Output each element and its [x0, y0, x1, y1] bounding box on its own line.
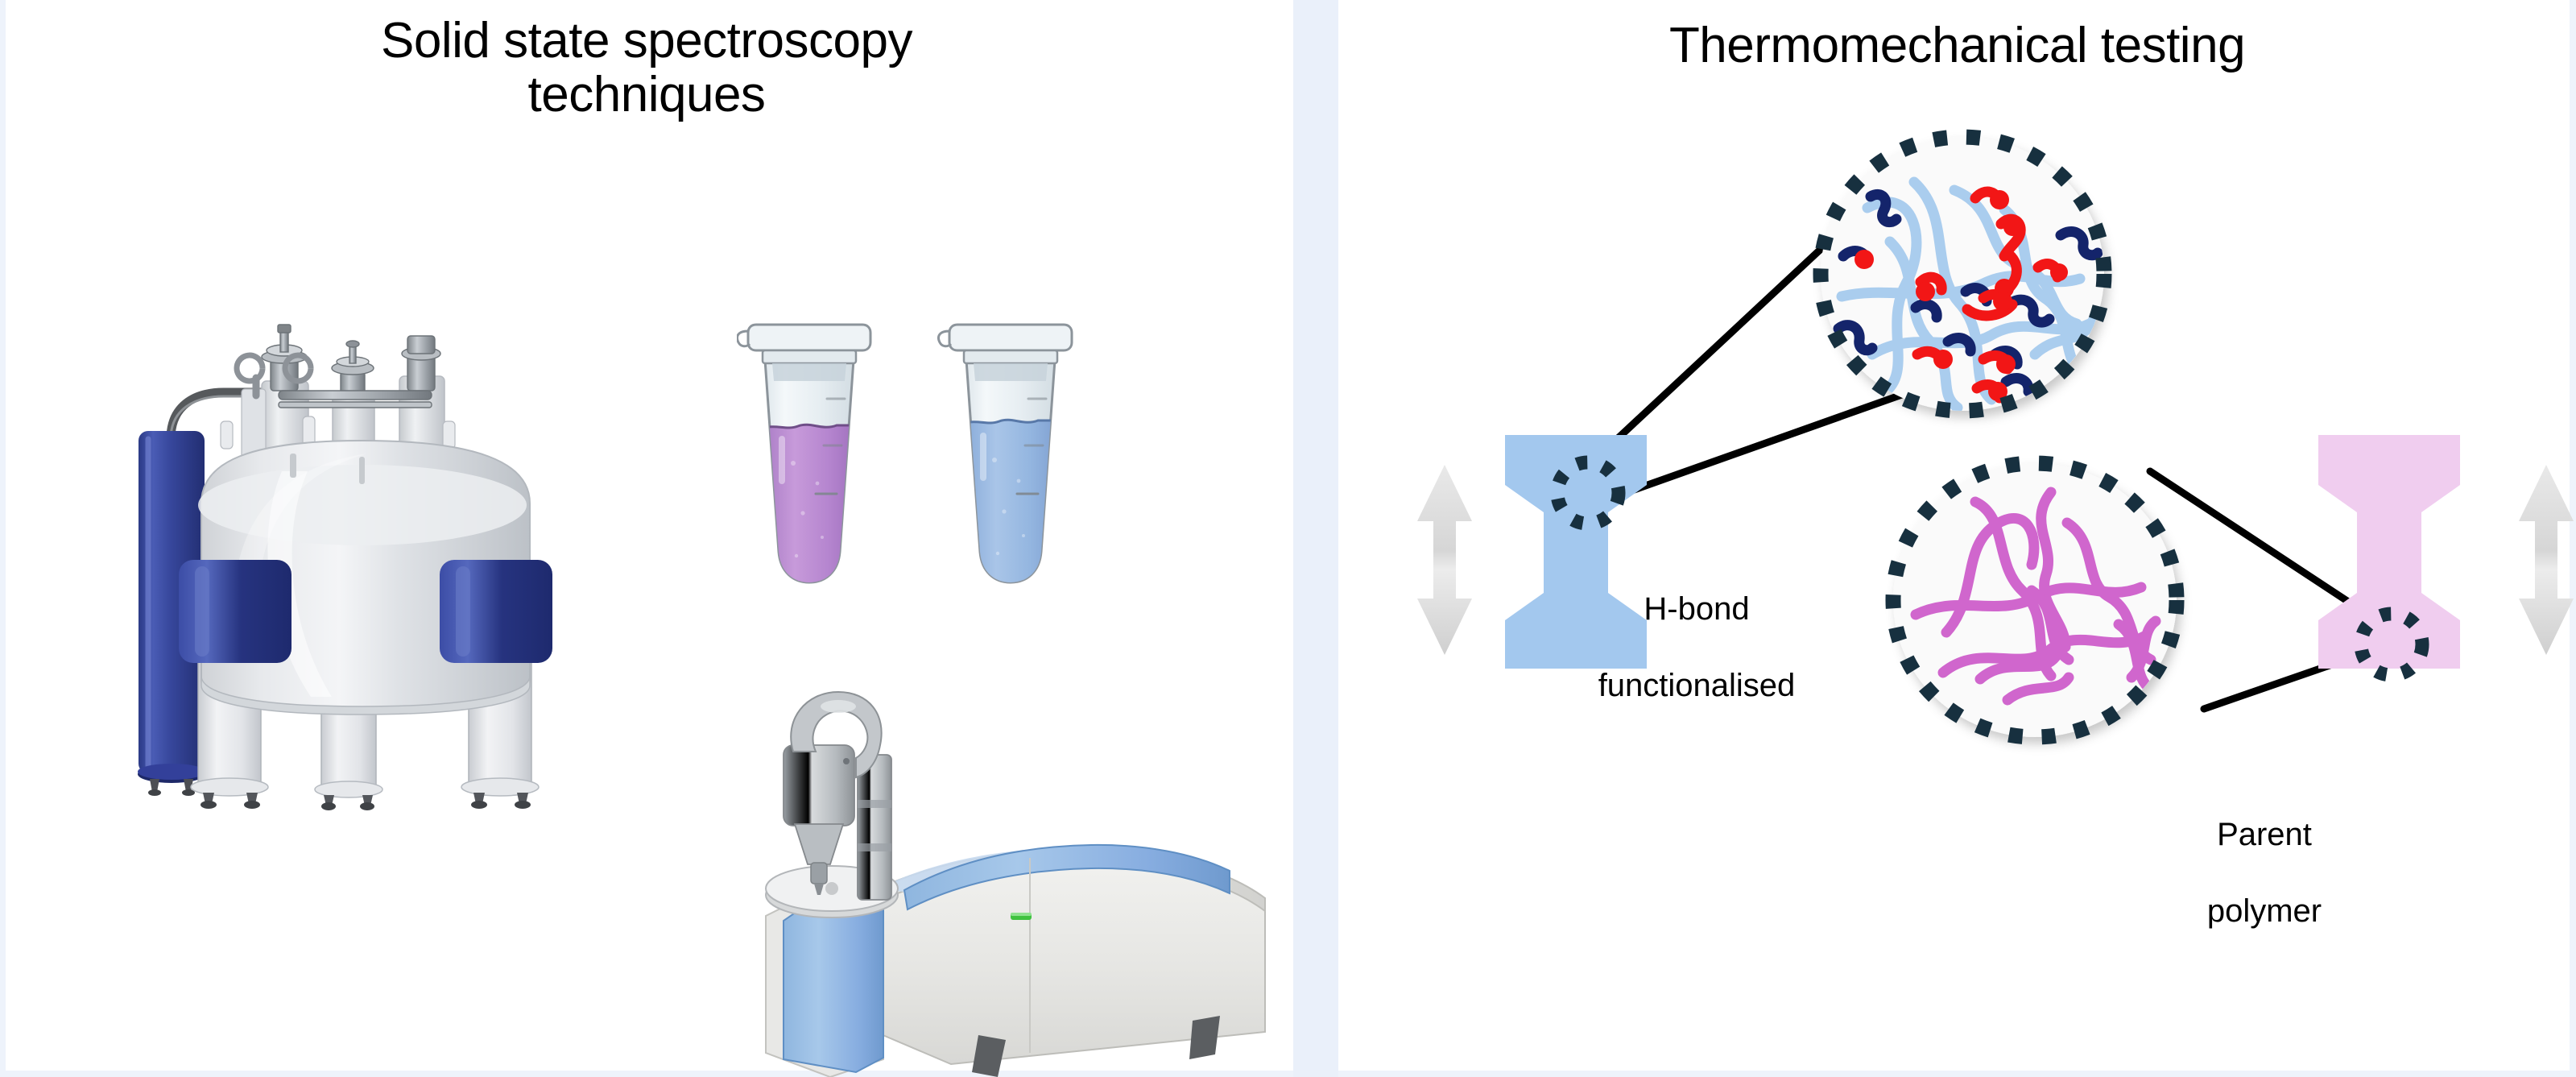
specimen-parent-dumbbell: [2301, 318, 2478, 785]
parent-network-circle: [1866, 439, 2204, 761]
panel-thermomechanical-testing: Thermomechanical testing: [1338, 0, 2576, 1077]
sample-tubes-icon: [737, 310, 1107, 648]
callout-label-parent-line2: polymer: [2160, 893, 2369, 930]
page-title-left-line2: techniques: [0, 68, 1293, 122]
callout-label-h-bond: H-bond functionalised: [1580, 553, 1813, 743]
zoom-marker-pink: [2347, 600, 2436, 689]
tensile-axis-arrow-right: [2514, 463, 2576, 657]
nmr-cryostat-magnet-icon: [121, 318, 588, 930]
page-title-left: Solid state spectroscopy techniques: [0, 14, 1293, 122]
callout-label-parent-line1: Parent: [2160, 816, 2369, 854]
ftir-spectrometer-icon: [688, 657, 1284, 1077]
zoom-marker-blue: [1544, 449, 1632, 537]
h-bond-network-circle: [1793, 113, 2132, 435]
panel-solid-state-spectroscopy: Solid state spectroscopy techniques: [0, 0, 1293, 1077]
tensile-axis-arrow-left: [1412, 463, 1477, 657]
panel-divider: [1293, 0, 1338, 1077]
page-title-left-line1: Solid state spectroscopy: [0, 14, 1293, 68]
page-title-right: Thermomechanical testing: [1338, 19, 2576, 73]
callout-label-h-bond-line2: functionalised: [1580, 667, 1813, 705]
callout-label-h-bond-line1: H-bond: [1580, 590, 1813, 628]
sample-tube-purple: [738, 325, 871, 588]
callout-label-parent: Parent polymer: [2160, 778, 2369, 968]
sample-tube-blue: [939, 325, 1073, 588]
figure-root: Solid state spectroscopy techniques: [0, 0, 2576, 1077]
